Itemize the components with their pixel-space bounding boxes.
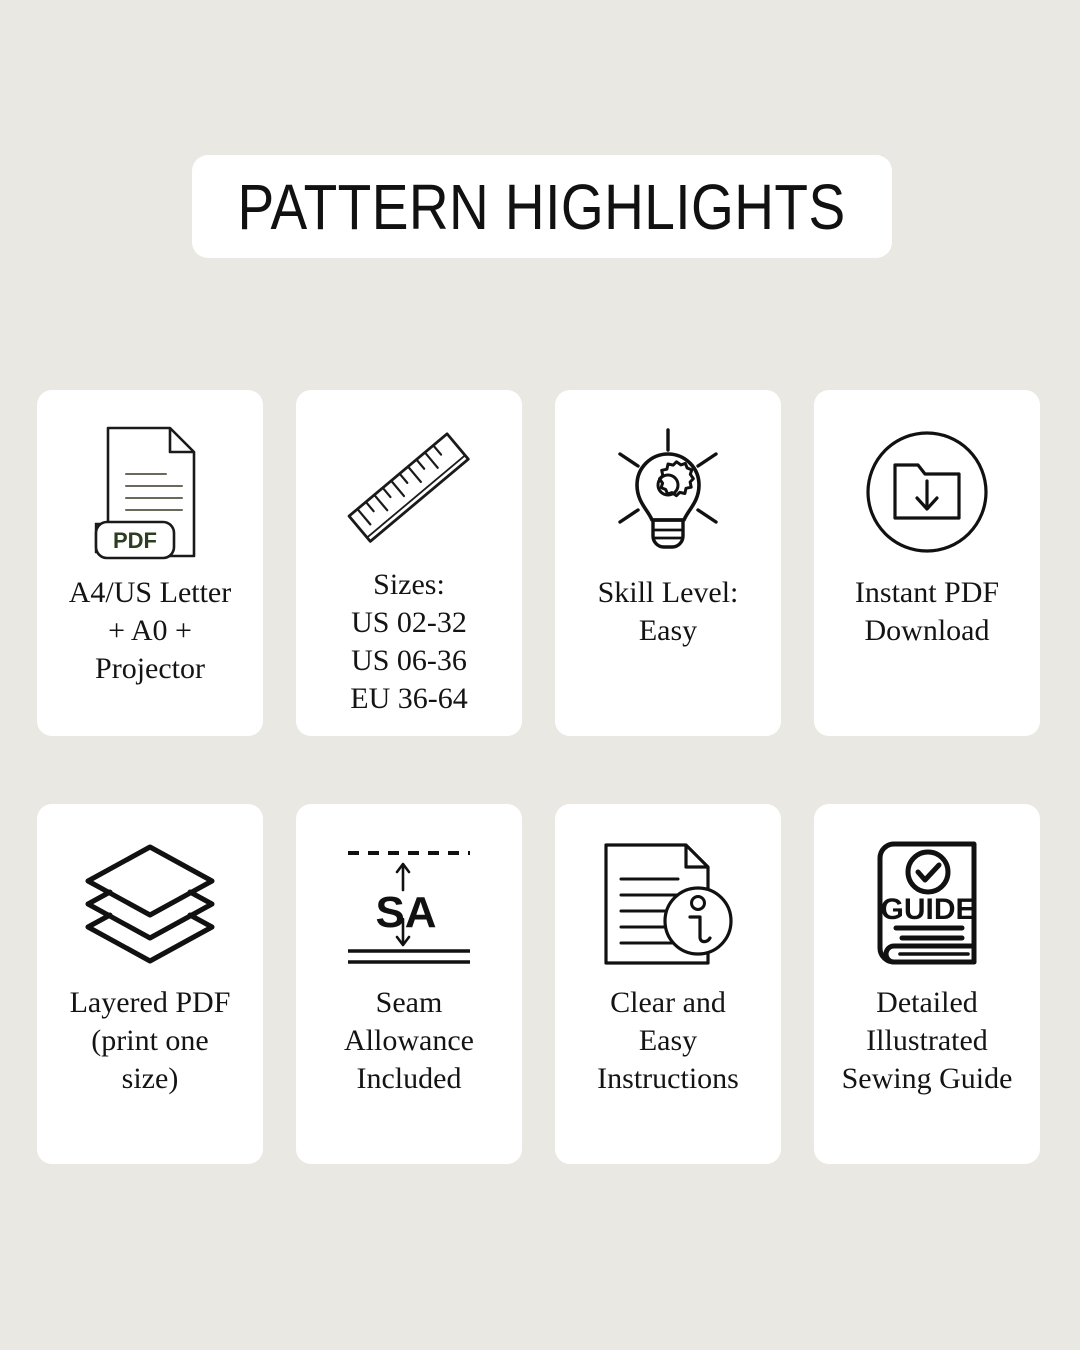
highlight-card-instructions[interactable]: Clear and Easy Instructions (555, 804, 781, 1164)
document-info-icon (600, 830, 736, 978)
highlights-grid: PDF A4/US Letter + A0 + Projector (37, 390, 1043, 1164)
lightbulb-gear-icon (600, 416, 736, 568)
card-label: A4/US Letter + A0 + Projector (61, 574, 239, 688)
ruler-icon (339, 416, 479, 560)
card-label: Skill Level: Easy (590, 574, 747, 650)
card-label: Detailed Illustrated Sewing Guide (834, 984, 1021, 1098)
seam-allowance-badge-label: SA (375, 888, 436, 937)
highlight-card-layered-pdf[interactable]: Layered PDF (print one size) (37, 804, 263, 1164)
pdf-document-icon: PDF (90, 416, 210, 568)
layers-icon (80, 830, 220, 978)
guide-badge-label: GUIDE (880, 893, 975, 926)
page-title: PATTERN HIGHLIGHTS (238, 175, 846, 239)
card-label: Instant PDF Download (847, 574, 1007, 650)
highlights-row-1: PDF A4/US Letter + A0 + Projector (37, 390, 1043, 736)
page-title-banner: PATTERN HIGHLIGHTS (192, 155, 892, 258)
highlight-card-skill-level[interactable]: Skill Level: Easy (555, 390, 781, 736)
card-label: Layered PDF (print one size) (62, 984, 239, 1098)
highlight-card-paper-formats[interactable]: PDF A4/US Letter + A0 + Projector (37, 390, 263, 736)
card-label: Seam Allowance Included (336, 984, 482, 1098)
highlight-card-sewing-guide[interactable]: GUIDE Detailed Illustrated Sewing Guide (814, 804, 1040, 1164)
pdf-badge-label: PDF (113, 528, 157, 553)
card-label: Clear and Easy Instructions (589, 984, 747, 1098)
card-label: Sizes: US 02-32 US 06-36 EU 36-64 (342, 566, 475, 718)
guide-book-icon: GUIDE (862, 830, 992, 978)
seam-allowance-icon: SA (344, 830, 474, 978)
highlight-card-sizes[interactable]: Sizes: US 02-32 US 06-36 EU 36-64 (296, 390, 522, 736)
folder-download-circle-icon (864, 416, 990, 568)
highlights-row-2: Layered PDF (print one size) SA Seam All… (37, 804, 1043, 1164)
highlight-card-seam-allowance[interactable]: SA Seam Allowance Included (296, 804, 522, 1164)
highlight-card-instant-download[interactable]: Instant PDF Download (814, 390, 1040, 736)
